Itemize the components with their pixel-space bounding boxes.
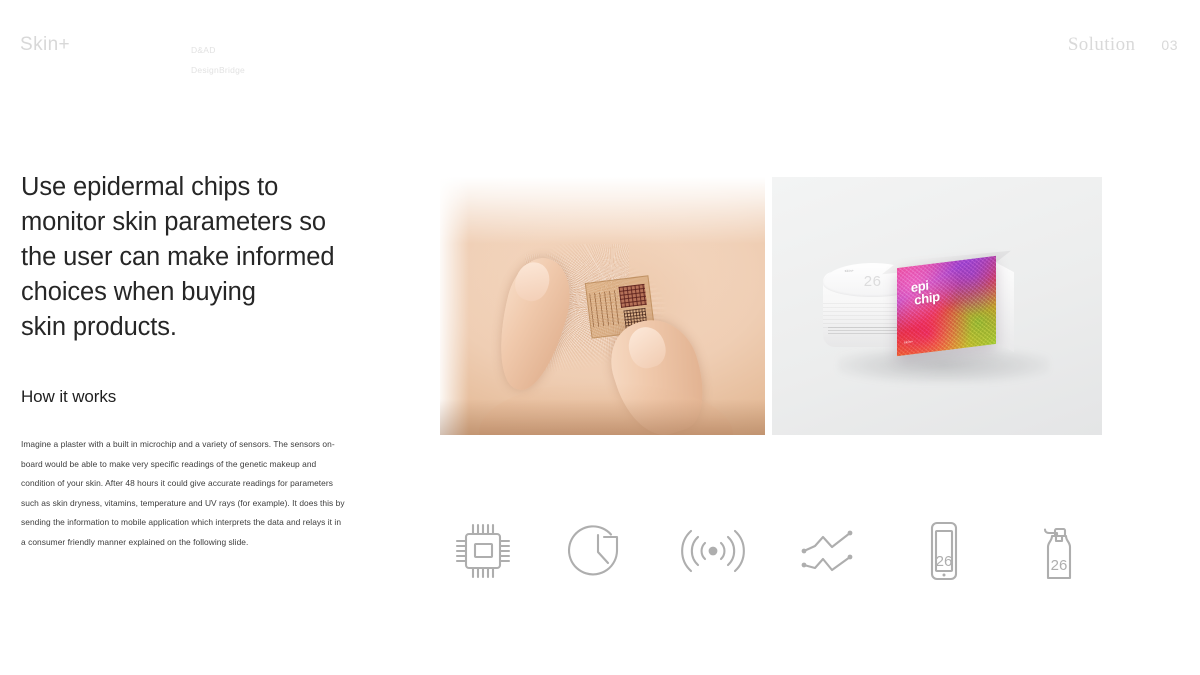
text-column: Use epidermal chips to monitor skin para… [21,170,351,552]
image-product-shot: 26 skin+ epi chip skin+ [772,177,1102,435]
chart-lines-icon [786,508,872,594]
phone-icon: 26 [901,508,987,594]
skin-shadow-bottom [440,399,765,435]
credits-block: D&AD DesignBridge [191,40,245,80]
credit-dandad: D&AD [191,40,245,60]
page-number: 03 [1161,37,1178,53]
header-right: Solution 03 [1068,34,1178,56]
product-box-footnote: skin+ [904,339,913,344]
section-title: Solution [1068,34,1136,56]
subheading-how-it-works: How it works [21,345,351,407]
credit-designbridge: DesignBridge [191,60,245,80]
signal-icon [670,508,756,594]
image-skin-patch [440,177,765,435]
phone-icon-value: 26 [935,553,952,570]
chip-traces [589,290,621,328]
brand-logo: Skin+ [20,34,70,56]
product-jar-brand: skin+ [845,269,855,273]
pump-bottle-icon-value: 26 [1051,557,1068,574]
page-title: Use epidermal chips to monitor skin para… [21,170,351,345]
microchip-icon [440,508,526,594]
skin-highlight-left [440,177,469,435]
slide-header: Skin+ D&AD DesignBridge Solution 03 [0,0,1200,90]
product-shadow [838,347,1049,383]
body-paragraph: Imagine a plaster with a built in microc… [21,407,346,552]
pump-bottle-icon: 26 [1016,508,1102,594]
feature-icon-row: 26 26 [440,508,1102,594]
chip-sensor-array-a [618,283,646,308]
skin-highlight-top [440,177,765,244]
clock-48h-icon [555,508,641,594]
